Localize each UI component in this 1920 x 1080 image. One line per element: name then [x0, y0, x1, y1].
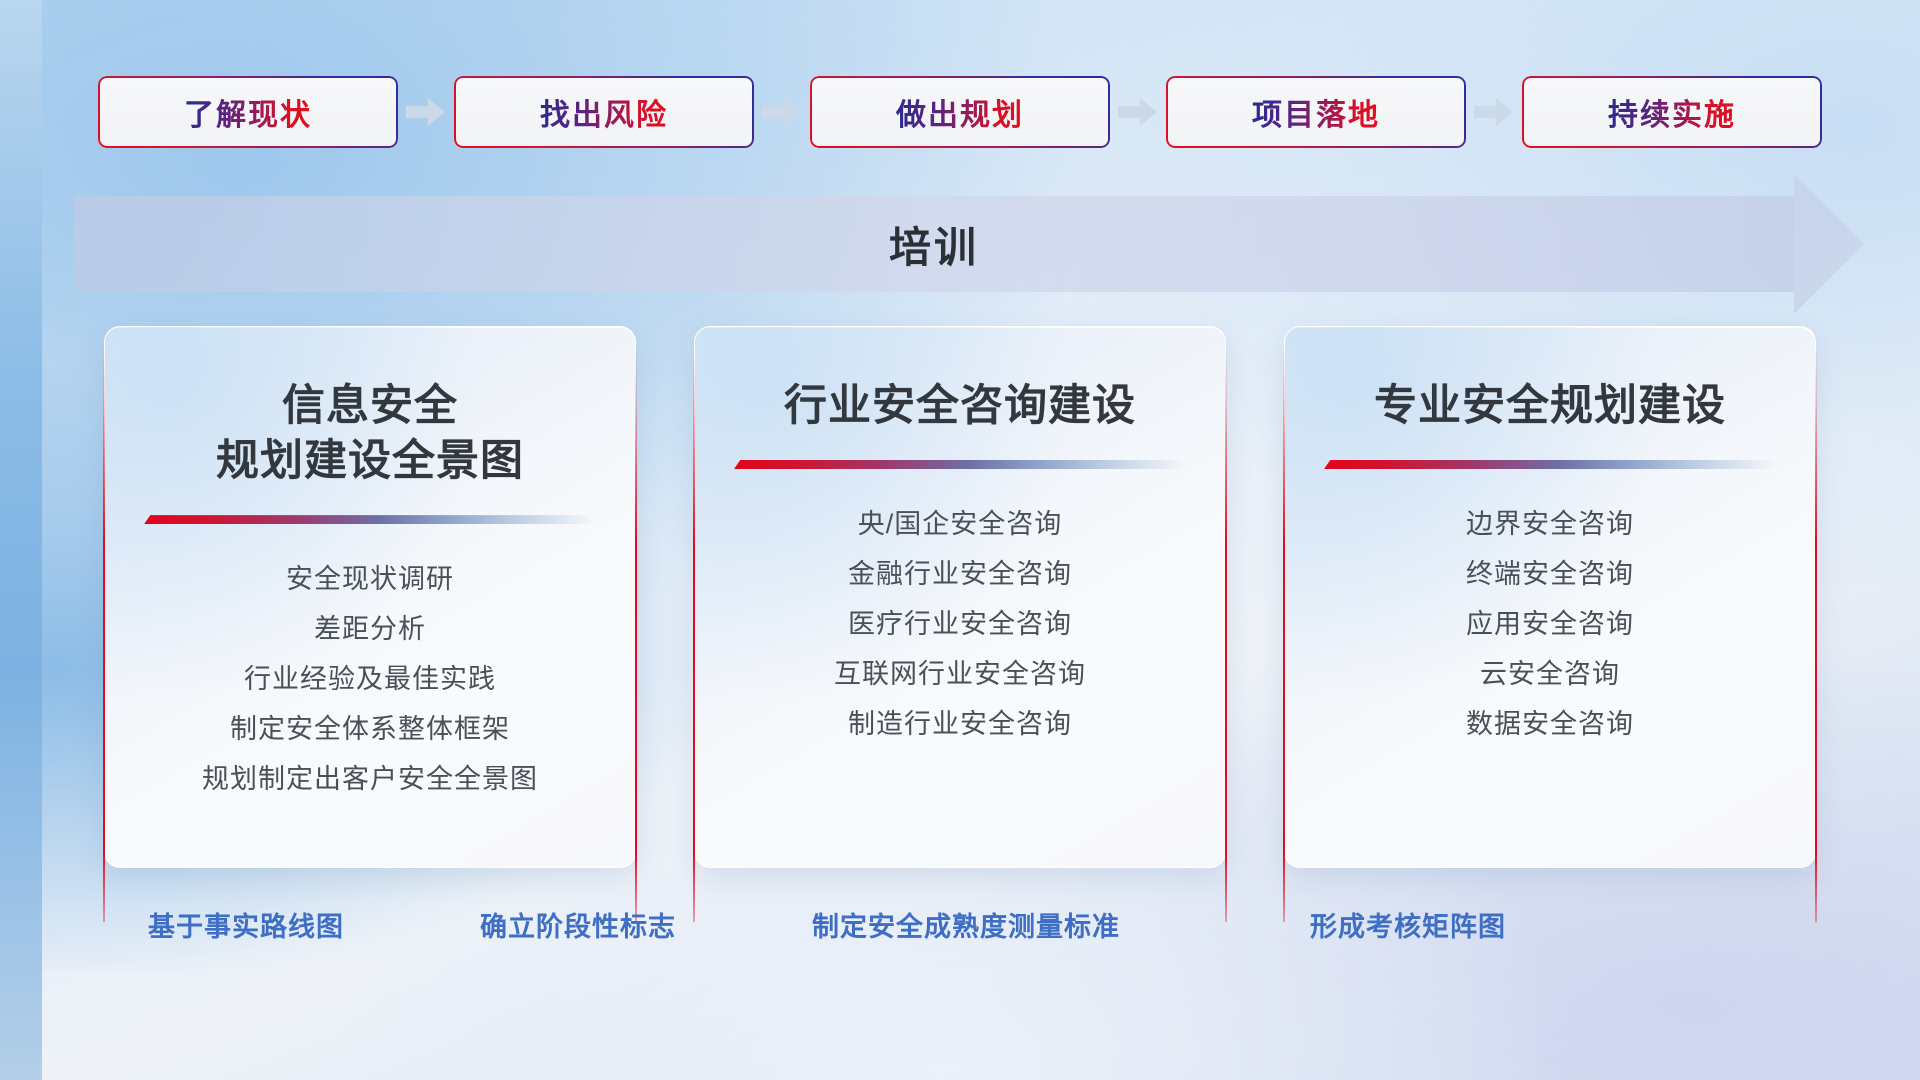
step-arrow-icon-1	[398, 62, 454, 162]
banner-title: 培训	[74, 196, 1794, 292]
step-label-5: 持续实施	[1608, 90, 1736, 134]
training-banner: 培训	[74, 196, 1864, 292]
step-label-1: 了解现状	[184, 90, 312, 134]
list-item: 规划制定出客户安全全景图	[202, 754, 538, 804]
list-item: 数据安全咨询	[1466, 699, 1634, 749]
card-title-3: 专业安全规划建设	[1374, 379, 1726, 434]
step-arrow-icon-2	[754, 62, 810, 162]
card-wrapper-1: 信息安全 规划建设全景图 安全现状调研 差距分析 行业经验及最佳实践 制定安全体…	[104, 326, 636, 868]
step-arrow-icon-4	[1466, 62, 1522, 162]
card-list-1: 安全现状调研 差距分析 行业经验及最佳实践 制定安全体系整体框架 规划制定出客户…	[105, 554, 635, 804]
step-box-1[interactable]: 了解现状	[98, 76, 398, 148]
step-box-3[interactable]: 做出规划	[810, 76, 1110, 148]
list-item: 行业经验及最佳实践	[244, 654, 496, 704]
card-title-1: 信息安全 规划建设全景图	[216, 379, 524, 489]
bottom-label-4: 形成考核矩阵图	[1310, 905, 1506, 944]
list-item: 云安全咨询	[1480, 649, 1620, 699]
list-item: 金融行业安全咨询	[848, 549, 1072, 599]
card-divider-1	[144, 515, 596, 524]
card-divider-3	[1324, 460, 1776, 469]
card-2[interactable]: 行业安全咨询建设 央/国企安全咨询 金融行业安全咨询 医疗行业安全咨询 互联网行…	[694, 326, 1226, 868]
step-box-4[interactable]: 项目落地	[1166, 76, 1466, 148]
list-item: 央/国企安全咨询	[858, 499, 1063, 549]
card-title-2: 行业安全咨询建设	[784, 379, 1136, 434]
step-label-4: 项目落地	[1252, 90, 1380, 134]
step-label-2: 找出风险	[540, 90, 668, 134]
card-edge-right-3	[1815, 344, 1817, 922]
list-item: 安全现状调研	[286, 554, 454, 604]
bottom-label-row: 基于事实路线图 确立阶段性标志 制定安全成熟度测量标准 形成考核矩阵图	[0, 905, 1920, 965]
step-box-2[interactable]: 找出风险	[454, 76, 754, 148]
card-3[interactable]: 专业安全规划建设 边界安全咨询 终端安全咨询 应用安全咨询 云安全咨询 数据安全…	[1284, 326, 1816, 868]
card-edge-left-3	[1283, 344, 1285, 922]
card-wrapper-2: 行业安全咨询建设 央/国企安全咨询 金融行业安全咨询 医疗行业安全咨询 互联网行…	[694, 326, 1226, 868]
bottom-label-2: 确立阶段性标志	[480, 905, 676, 944]
list-item: 互联网行业安全咨询	[834, 649, 1086, 699]
bottom-label-3: 制定安全成熟度测量标准	[812, 905, 1120, 944]
list-item: 应用安全咨询	[1466, 599, 1634, 649]
list-item: 医疗行业安全咨询	[848, 599, 1072, 649]
step-box-5[interactable]: 持续实施	[1522, 76, 1822, 148]
list-item: 制造行业安全咨询	[848, 699, 1072, 749]
step-flow: 了解现状 找出风险 做出规划 项目落地 持续实施	[0, 62, 1920, 162]
bottom-label-1: 基于事实路线图	[148, 905, 344, 944]
list-item: 终端安全咨询	[1466, 549, 1634, 599]
list-item: 制定安全体系整体框架	[230, 704, 510, 754]
card-edge-right-2	[1225, 344, 1227, 922]
card-list-2: 央/国企安全咨询 金融行业安全咨询 医疗行业安全咨询 互联网行业安全咨询 制造行…	[695, 499, 1225, 749]
card-wrapper-3: 专业安全规划建设 边界安全咨询 终端安全咨询 应用安全咨询 云安全咨询 数据安全…	[1284, 326, 1816, 868]
card-edge-right-1	[635, 344, 637, 922]
step-label-3: 做出规划	[896, 90, 1024, 134]
banner-arrowhead-icon	[1794, 174, 1864, 314]
card-row: 信息安全 规划建设全景图 安全现状调研 差距分析 行业经验及最佳实践 制定安全体…	[0, 326, 1920, 876]
card-list-3: 边界安全咨询 终端安全咨询 应用安全咨询 云安全咨询 数据安全咨询	[1285, 499, 1815, 749]
step-arrow-icon-3	[1110, 62, 1166, 162]
card-edge-left-2	[693, 344, 695, 922]
list-item: 边界安全咨询	[1466, 499, 1634, 549]
card-1[interactable]: 信息安全 规划建设全景图 安全现状调研 差距分析 行业经验及最佳实践 制定安全体…	[104, 326, 636, 868]
card-divider-2	[734, 460, 1186, 469]
list-item: 差距分析	[314, 604, 426, 654]
card-edge-left-1	[103, 344, 105, 922]
